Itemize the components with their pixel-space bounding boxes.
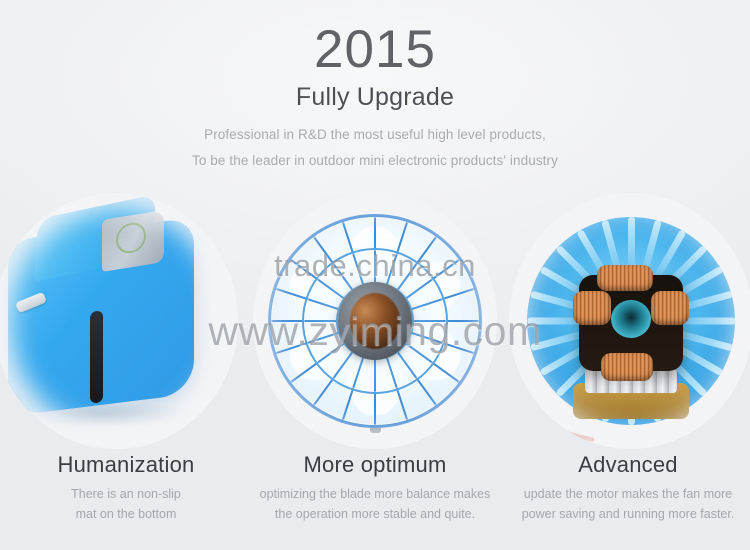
fan-motor-illustration bbox=[509, 193, 750, 449]
tagline-line-2: To be the leader in outdoor mini electro… bbox=[0, 142, 750, 168]
product-feature-banner: 2015 Fully Upgrade Professional in R&D t… bbox=[0, 0, 750, 550]
fan-base-illustration bbox=[0, 193, 238, 449]
power-switch-slot bbox=[90, 310, 103, 404]
feature-description-line: mat on the bottom bbox=[76, 507, 177, 521]
fan-blades-photo bbox=[253, 193, 497, 449]
motor-coil bbox=[573, 291, 611, 325]
product-photo-strip bbox=[0, 193, 750, 449]
fan-motor-photo bbox=[509, 193, 750, 449]
feature-description: update the motor makes the fan more powe… bbox=[506, 478, 750, 524]
tagline-line-1: Professional in R&D the most useful high… bbox=[0, 112, 750, 142]
feature-description-line: There is an non-slip bbox=[71, 487, 181, 501]
year-heading: 2015 bbox=[0, 0, 750, 78]
feature-description: There is an non-slip mat on the bottom bbox=[8, 478, 244, 524]
fan-hub bbox=[338, 282, 412, 360]
feature-description-line: update the motor makes the fan more bbox=[524, 487, 732, 501]
feature-caption-more-optimum: More optimum optimizing the blade more b… bbox=[244, 452, 506, 550]
fan-hub-core bbox=[350, 293, 400, 349]
feature-description-line: power saving and running more faster. bbox=[522, 507, 735, 521]
feature-captions: Humanization There is an non-slip mat on… bbox=[0, 452, 750, 550]
feature-caption-advanced: Advanced update the motor makes the fan … bbox=[506, 452, 750, 550]
motor-core bbox=[579, 275, 683, 371]
motor-coil bbox=[651, 291, 689, 325]
motor-coil bbox=[597, 265, 653, 291]
feature-description-line: the operation more stable and quite. bbox=[275, 507, 475, 521]
subtitle-heading: Fully Upgrade bbox=[0, 78, 750, 112]
banner-header: 2015 Fully Upgrade Professional in R&D t… bbox=[0, 0, 750, 169]
motor-coil bbox=[601, 353, 653, 381]
feature-description-line: optimizing the blade more balance makes bbox=[260, 487, 491, 501]
feature-title: More optimum bbox=[244, 452, 506, 478]
motor-bore bbox=[611, 300, 651, 338]
feature-caption-humanization: Humanization There is an non-slip mat on… bbox=[0, 452, 244, 550]
feature-description: optimizing the blade more balance makes … bbox=[244, 478, 506, 524]
fan-blades-illustration bbox=[253, 193, 497, 449]
feature-title: Humanization bbox=[8, 452, 244, 478]
fan-assembly bbox=[268, 214, 482, 428]
fan-base-photo bbox=[0, 193, 238, 449]
feature-title: Advanced bbox=[506, 452, 750, 478]
